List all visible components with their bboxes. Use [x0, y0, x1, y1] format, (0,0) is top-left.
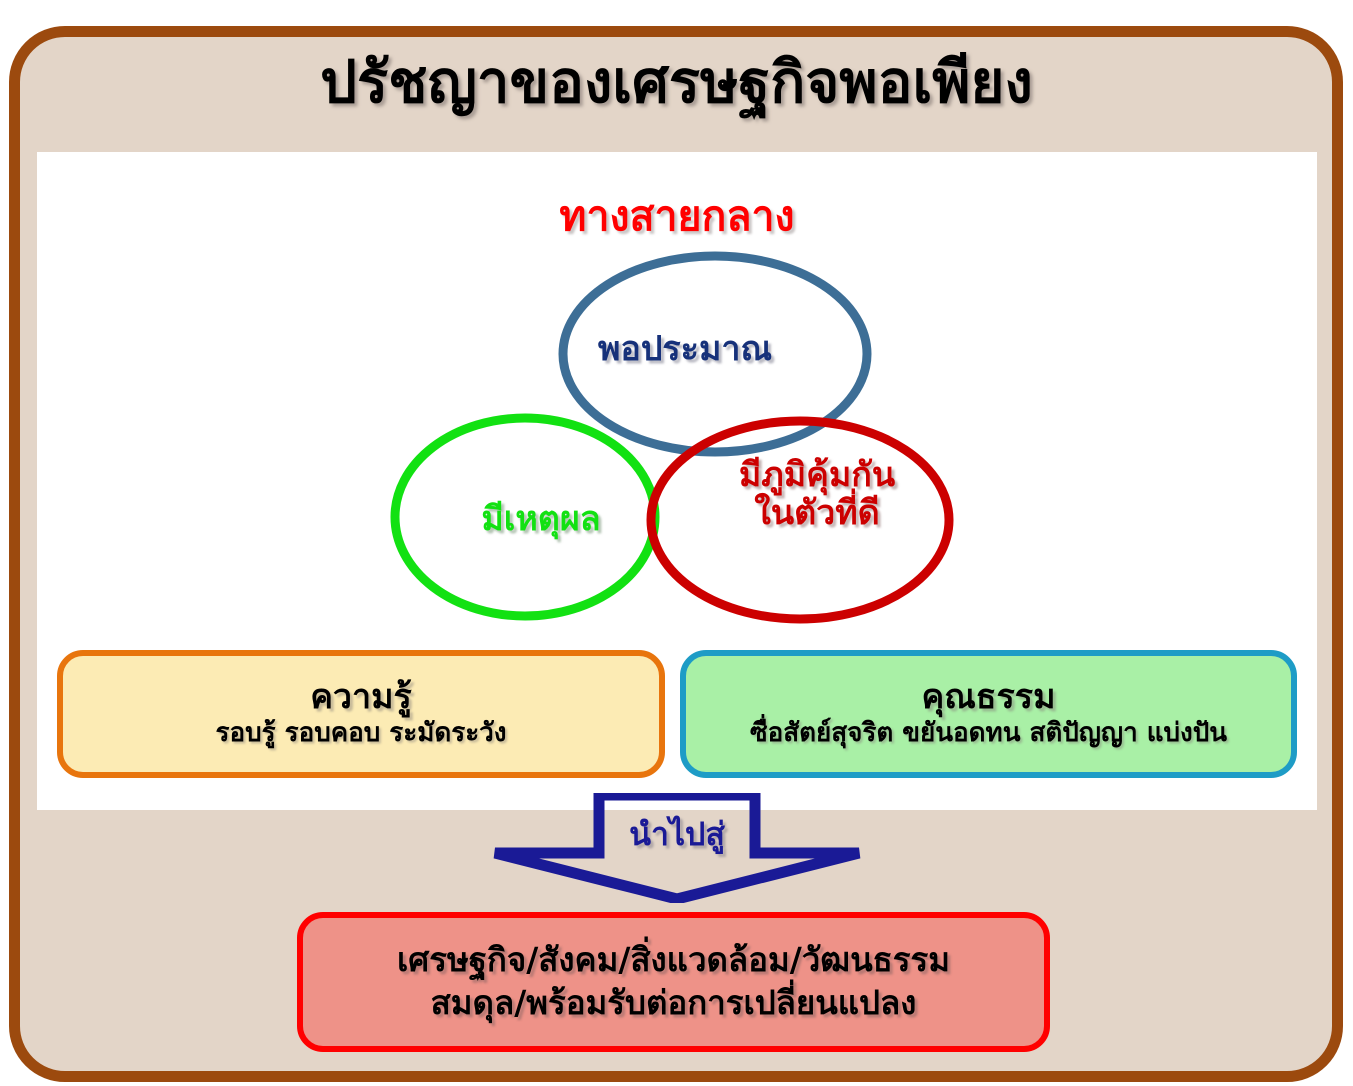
moderation-label: พอประมาณ	[525, 330, 845, 368]
reason-label: มีเหตุผล	[405, 500, 677, 538]
immunity-label-line1: มีภูมิคุ้มกัน	[675, 456, 959, 494]
leads-to-arrow: นำไปสู่	[487, 793, 867, 903]
page-title: ปรัชญาของเศรษฐกิจพอเพียง	[0, 52, 1353, 113]
result-line-1: เศรษฐกิจ/สังคม/สิ่งแวดล้อม/วัฒนธรรม	[397, 939, 950, 982]
content-panel: ทางสายกลาง พอประมาณ มีเหตุผล มีภูมิคุ้มก…	[37, 152, 1317, 810]
diagram-canvas: ปรัชญาของเศรษฐกิจพอเพียง ทางสายกลาง พอปร…	[0, 0, 1353, 1086]
knowledge-heading: ความรู้	[310, 679, 412, 716]
immunity-label-line2: ในตัวที่ดี	[675, 494, 959, 532]
arrow-label: นำไปสู่	[487, 809, 867, 860]
knowledge-box: ความรู้ รอบรู้ รอบคอบ ระมัดระวัง	[57, 650, 665, 778]
result-box: เศรษฐกิจ/สังคม/สิ่งแวดล้อม/วัฒนธรรม สมดุ…	[297, 912, 1050, 1052]
morality-box: คุณธรรม ซื่อสัตย์สุจริต ขยันอดทน สติปัญญ…	[680, 650, 1297, 778]
knowledge-detail: รอบรู้ รอบคอบ ระมัดระวัง	[216, 719, 507, 749]
morality-detail: ซื่อสัตย์สุจริต ขยันอดทน สติปัญญา แบ่งปั…	[750, 719, 1227, 749]
morality-heading: คุณธรรม	[922, 679, 1056, 716]
result-line-2: สมดุล/พร้อมรับต่อการเปลี่ยนแปลง	[431, 982, 917, 1025]
immunity-label: มีภูมิคุ้มกัน ในตัวที่ดี	[675, 456, 959, 532]
middle-path-heading: ทางสายกลาง	[37, 184, 1317, 249]
